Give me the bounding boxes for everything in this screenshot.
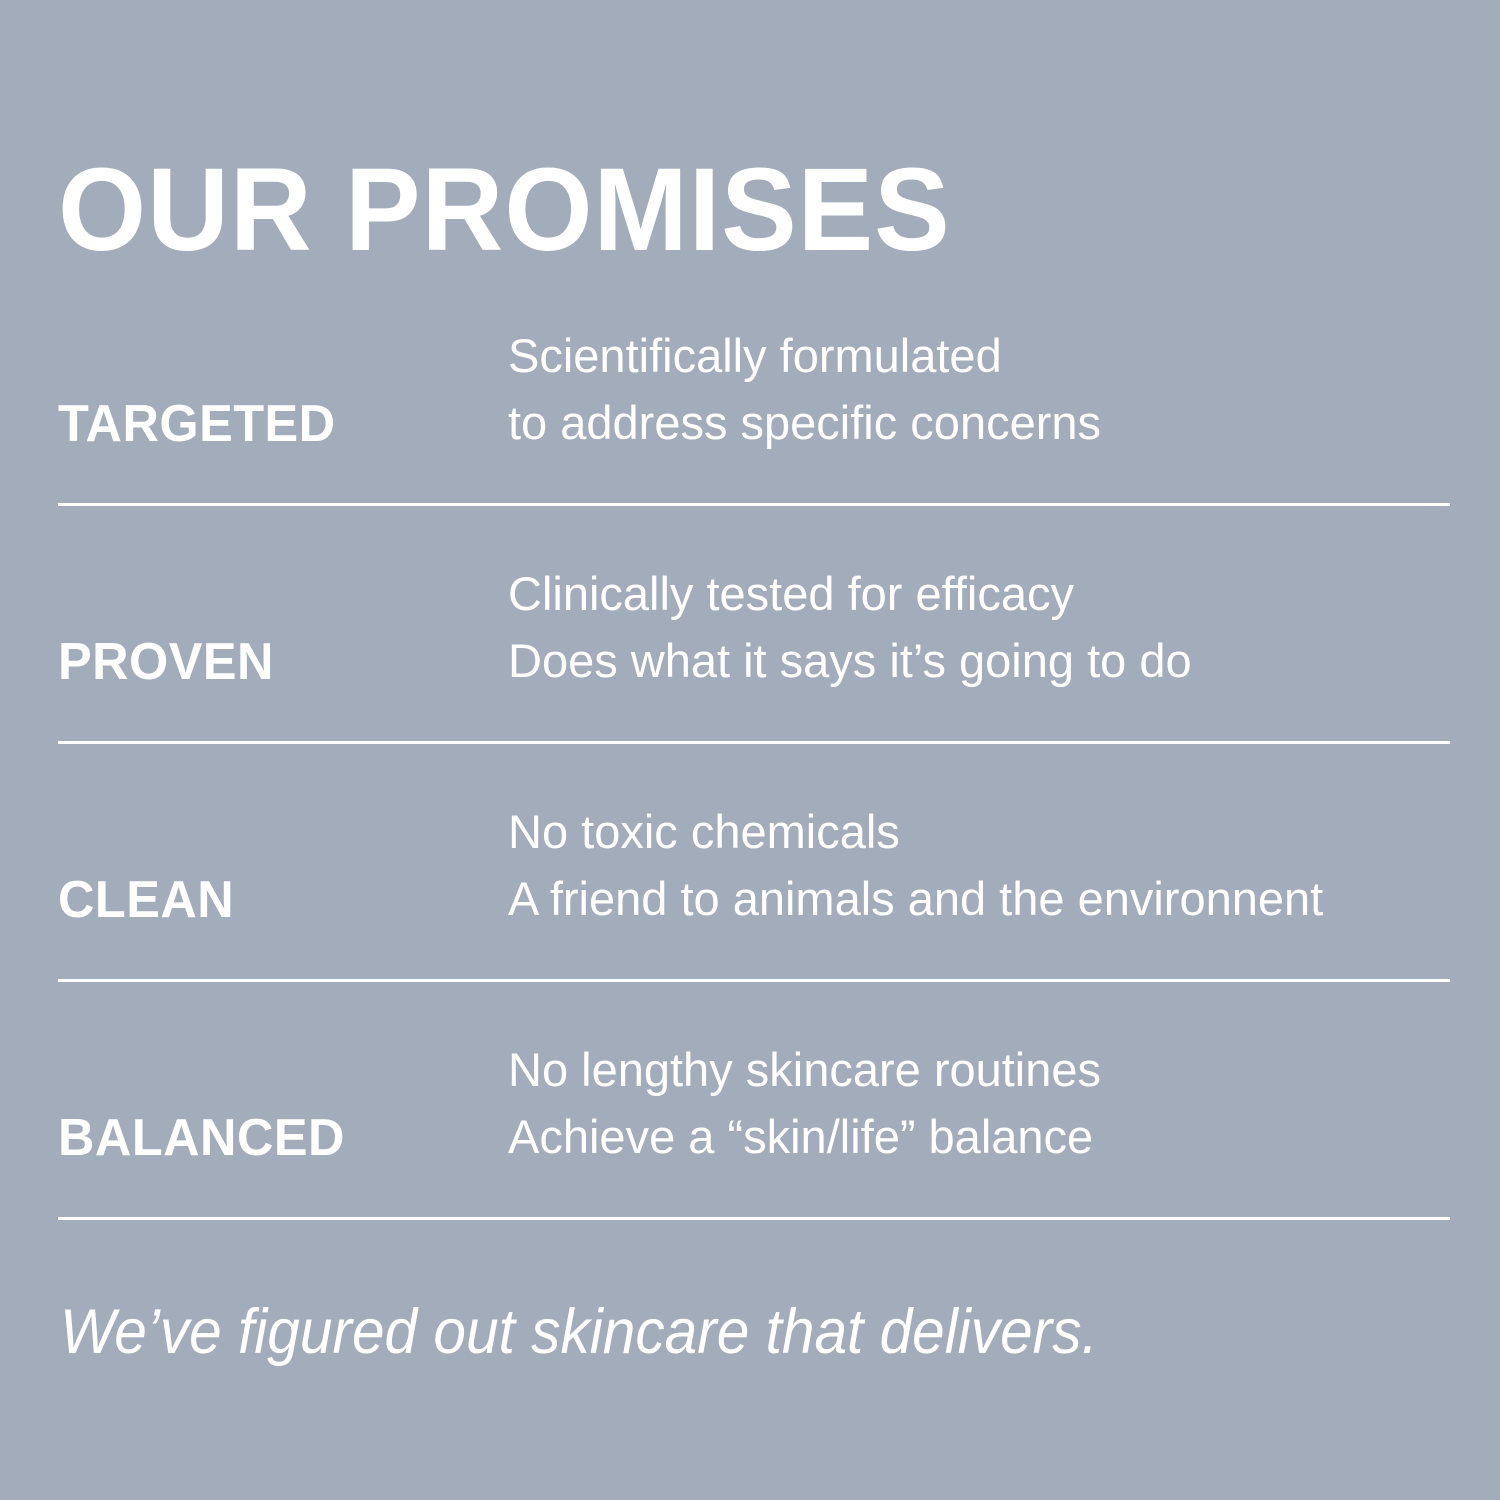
our-promises-card: OUR PROMISES TARGETED Scientifically for… bbox=[0, 0, 1500, 1500]
promise-description-line: Does what it says it’s going to do bbox=[508, 627, 1192, 694]
promise-description-clean: No toxic chemicals A friend to animals a… bbox=[508, 798, 1323, 932]
promise-label-clean: CLEAN bbox=[58, 874, 234, 926]
promise-description-line: No toxic chemicals bbox=[508, 798, 1323, 865]
promise-description-line: Scientifically formulated bbox=[508, 322, 1101, 389]
promise-row-targeted: TARGETED Scientifically formulated to ad… bbox=[0, 268, 1500, 506]
promise-row-content: TARGETED Scientifically formulated to ad… bbox=[58, 268, 1450, 506]
promise-label-balanced: BALANCED bbox=[58, 1112, 345, 1164]
promise-label-targeted: TARGETED bbox=[58, 398, 336, 450]
promise-description-line: Clinically tested for efficacy bbox=[508, 560, 1192, 627]
promise-description-line: Achieve a “skin/life” balance bbox=[508, 1103, 1101, 1170]
promise-description-line: A friend to animals and the environnent bbox=[508, 865, 1323, 932]
promise-description-targeted: Scientifically formulated to address spe… bbox=[508, 322, 1101, 456]
promise-row-content: CLEAN No toxic chemicals A friend to ani… bbox=[58, 744, 1450, 982]
promise-row-balanced: BALANCED No lengthy skincare routines Ac… bbox=[0, 982, 1500, 1220]
promise-description-balanced: No lengthy skincare routines Achieve a “… bbox=[508, 1036, 1101, 1170]
promise-row-proven: PROVEN Clinically tested for efficacy Do… bbox=[0, 506, 1500, 744]
promise-description-line: to address specific concerns bbox=[508, 389, 1101, 456]
row-divider bbox=[58, 1217, 1450, 1220]
promise-description-line: No lengthy skincare routines bbox=[508, 1036, 1101, 1103]
promise-description-proven: Clinically tested for efficacy Does what… bbox=[508, 560, 1192, 694]
promise-label-proven: PROVEN bbox=[58, 636, 274, 688]
promise-row-clean: CLEAN No toxic chemicals A friend to ani… bbox=[0, 744, 1500, 982]
promise-row-content: BALANCED No lengthy skincare routines Ac… bbox=[58, 982, 1450, 1220]
promise-row-content: PROVEN Clinically tested for efficacy Do… bbox=[58, 506, 1450, 744]
tagline: We’ve figured out skincare that delivers… bbox=[60, 1296, 1098, 1368]
promise-list: TARGETED Scientifically formulated to ad… bbox=[0, 268, 1500, 1220]
page-title: OUR PROMISES bbox=[58, 151, 951, 269]
